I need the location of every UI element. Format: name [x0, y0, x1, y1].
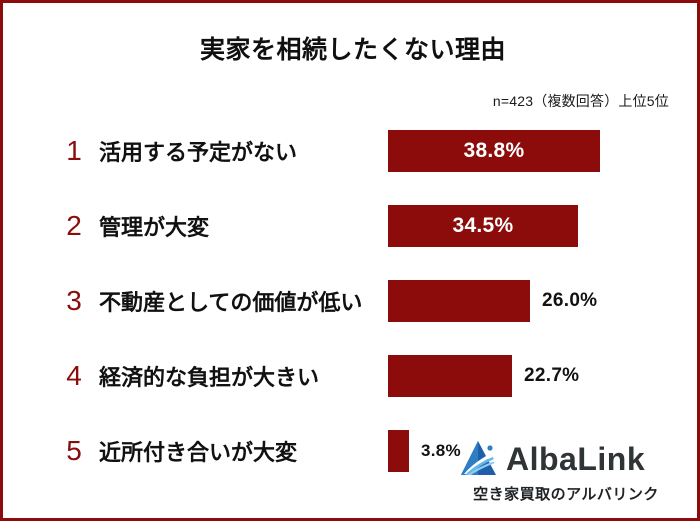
- bar-value: 38.8%: [463, 139, 524, 163]
- chart-card: 実家を相続したくない理由 n=423（複数回答）上位5位 1 活用する予定がない…: [0, 0, 700, 521]
- sample-size-note: n=423（複数回答）上位5位: [493, 91, 669, 111]
- bar-value: 22.7%: [524, 365, 579, 387]
- bar-track: 38.8%: [388, 123, 688, 179]
- chart-row: 1 活用する予定がない 38.8%: [3, 123, 700, 179]
- rank-number: 1: [61, 123, 87, 179]
- chart-row: 3 不動産としての価値が低い 26.0%: [3, 273, 700, 329]
- bar-track: 26.0%: [388, 273, 688, 329]
- logo-top-row: AlbaLink: [457, 438, 675, 480]
- bar-track: 22.7%: [388, 348, 688, 404]
- logo-wordmark: AlbaLink: [506, 443, 645, 475]
- bar-track: 34.5%: [388, 198, 688, 254]
- bar: [388, 430, 409, 472]
- rank-number: 5: [61, 423, 87, 479]
- bar-value: 34.5%: [452, 214, 513, 238]
- albalink-mountain-icon: [457, 439, 499, 479]
- bar: 34.5%: [388, 205, 578, 247]
- chart-row: 2 管理が大変 34.5%: [3, 198, 700, 254]
- rank-number: 2: [61, 198, 87, 254]
- category-label: 活用する予定がない: [99, 123, 297, 179]
- category-label: 近所付き合いが大変: [99, 423, 297, 479]
- chart-row: 4 経済的な負担が大きい 22.7%: [3, 348, 700, 404]
- bar: [388, 280, 530, 322]
- category-label: 経済的な負担が大きい: [99, 348, 319, 404]
- bar-value: 3.8%: [421, 441, 461, 461]
- category-label: 管理が大変: [99, 198, 209, 254]
- page-title: 実家を相続したくない理由: [3, 35, 700, 65]
- brand-logo: AlbaLink 空き家買取のアルバリンク: [457, 438, 675, 504]
- rank-number: 4: [61, 348, 87, 404]
- logo-tagline: 空き家買取のアルバリンク: [457, 483, 675, 504]
- bar-value: 26.0%: [542, 290, 597, 312]
- rank-number: 3: [61, 273, 87, 329]
- bar: [388, 355, 512, 397]
- bar: 38.8%: [388, 130, 600, 172]
- category-label: 不動産としての価値が低い: [99, 273, 362, 329]
